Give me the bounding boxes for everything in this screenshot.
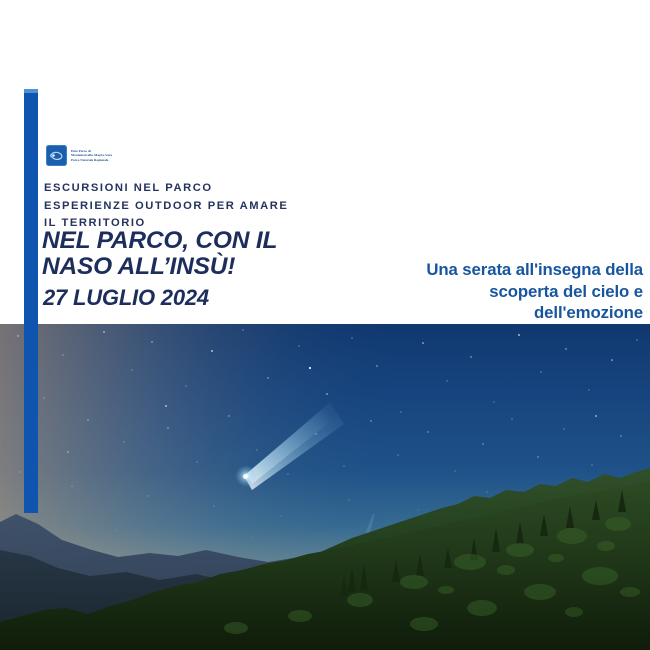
page-title: NEL PARCO, CON IL NASO ALL’INSÙ! <box>42 228 277 280</box>
tagline-text: Una serata all'insegna della scoperta de… <box>313 259 643 324</box>
eyebrow-text: ESCURSIONI NEL PARCO ESPERIENZE OUTDOOR … <box>44 180 288 233</box>
poster-canvas: Ente Parco di Montemarcello-Magra-Vara P… <box>0 0 650 650</box>
park-logo-mark-icon <box>46 145 67 166</box>
blue-accent-bar <box>24 89 38 513</box>
photo-artwork <box>0 324 650 650</box>
night-sky-photo <box>0 324 650 650</box>
park-logo-text: Ente Parco di Montemarcello-Magra-Vara P… <box>71 149 112 162</box>
park-logo: Ente Parco di Montemarcello-Magra-Vara P… <box>46 145 112 166</box>
event-date: 27 LUGLIO 2024 <box>43 285 209 311</box>
park-swirl-icon <box>49 150 64 161</box>
logo-line-3: Parco Naturale Regionale <box>71 158 112 162</box>
